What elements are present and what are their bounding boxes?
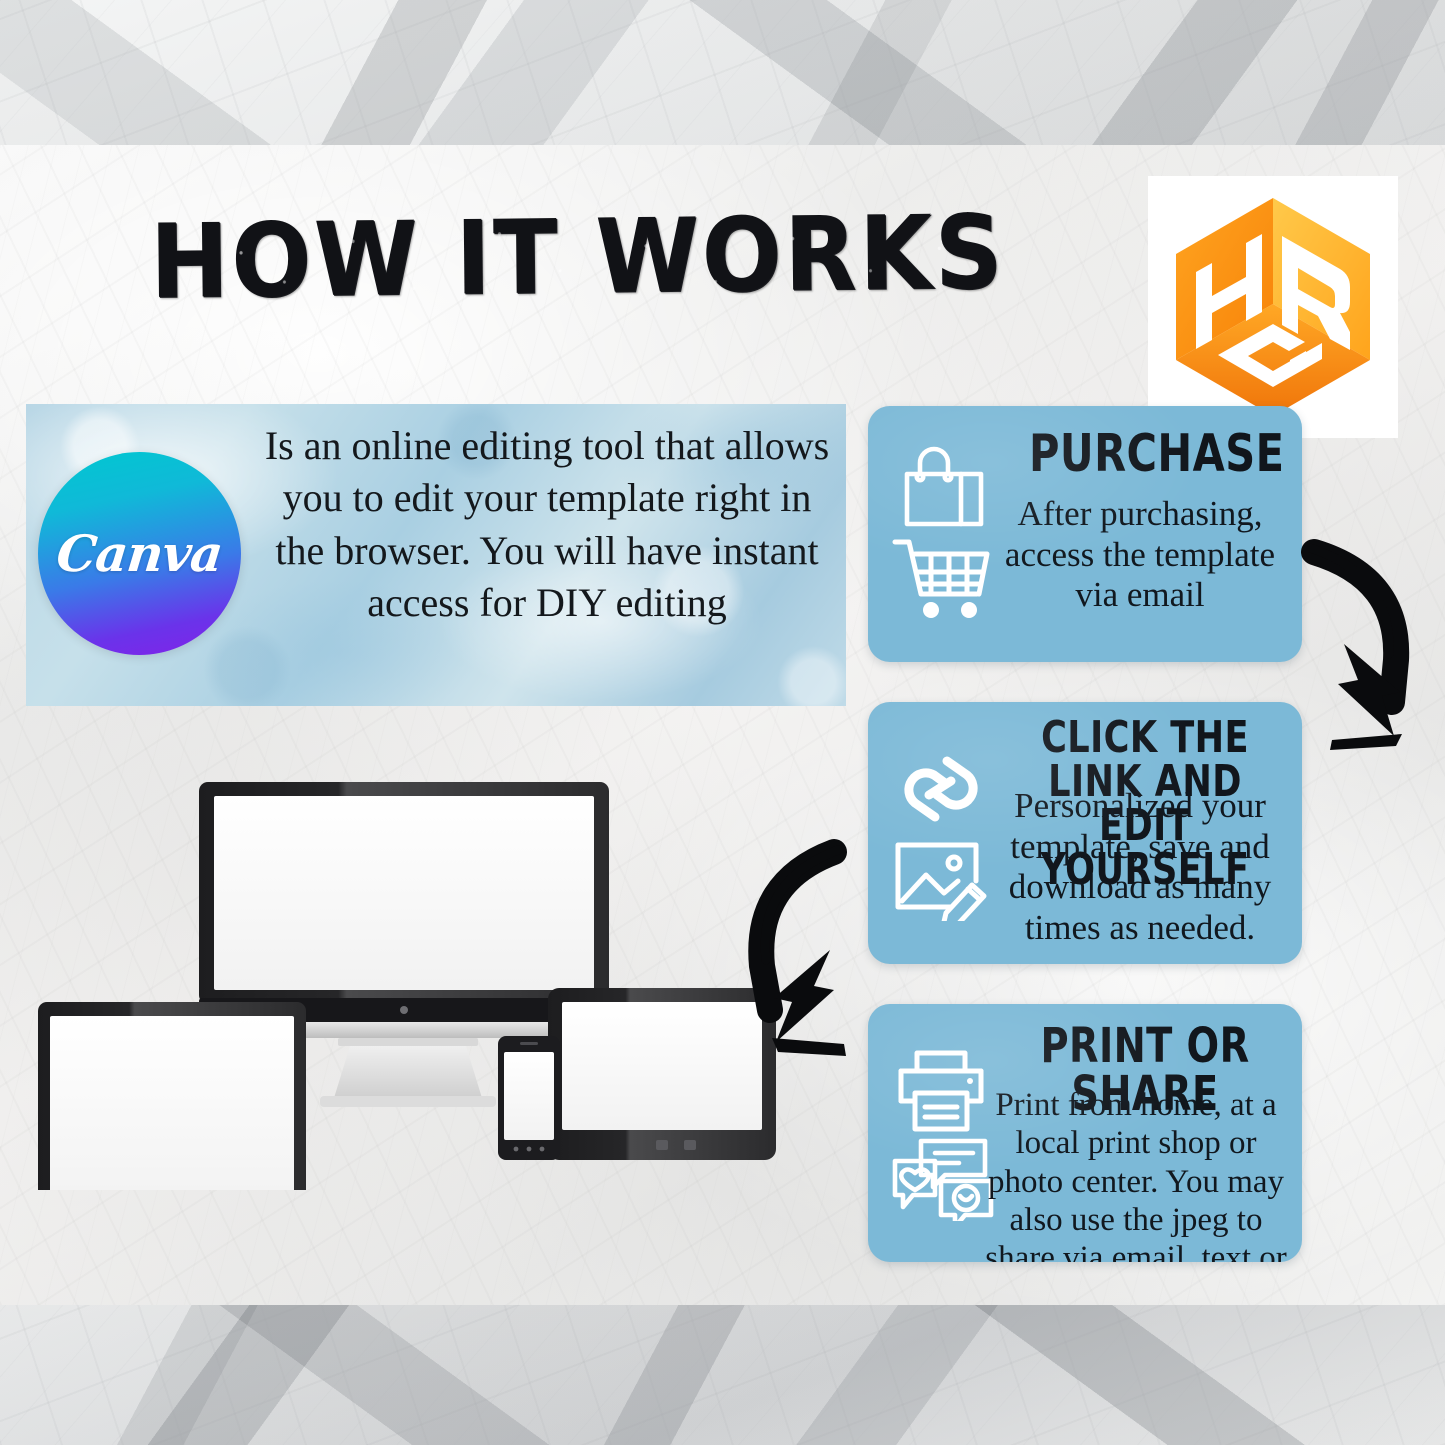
- arrow-edit-to-print: [748, 838, 888, 1063]
- brand-logo: [1148, 176, 1398, 438]
- canva-description: Is an online editing tool that allows yo…: [258, 420, 836, 630]
- purchase-body: After purchasing, access the template vi…: [988, 494, 1292, 616]
- canva-logo-icon: Canva: [38, 452, 241, 655]
- purchase-heading: PURCHASE: [1029, 428, 1261, 480]
- image-edit-icon: [888, 835, 994, 921]
- purchase-icon-group: [882, 414, 1000, 654]
- page-title: HOW IT WORKS: [150, 202, 1006, 314]
- hrg-cube-icon: [1164, 192, 1382, 422]
- chain-link-icon: [889, 745, 993, 833]
- edit-icon-group: [882, 710, 1000, 956]
- print-body: Print from home, at a local print shop o…: [980, 1086, 1292, 1262]
- canva-logo-label: Canva: [54, 524, 225, 583]
- arrow-purchase-to-edit: [1296, 534, 1426, 754]
- shopping-cart-icon: [889, 532, 993, 622]
- printer-icon: [889, 1045, 993, 1133]
- social-share-icon: [887, 1135, 995, 1221]
- devices-mockup-photo: [20, 770, 810, 1190]
- edit-body: Personalized your template, save and dow…: [988, 786, 1292, 948]
- shopping-bag-icon: [889, 446, 993, 530]
- step-card-edit[interactable]: CLICK THE LINK AND EDIT YOURSELF Persona…: [868, 702, 1302, 964]
- step-card-purchase[interactable]: PURCHASE After purchasing, access the te…: [868, 406, 1302, 662]
- step-card-print[interactable]: PRINT OR SHARE Print from home, at a loc…: [868, 1004, 1302, 1262]
- infographic-canvas: HOW IT WORKS: [0, 0, 1445, 1445]
- canva-info-panel: Canva Is an online editing tool that all…: [26, 404, 846, 706]
